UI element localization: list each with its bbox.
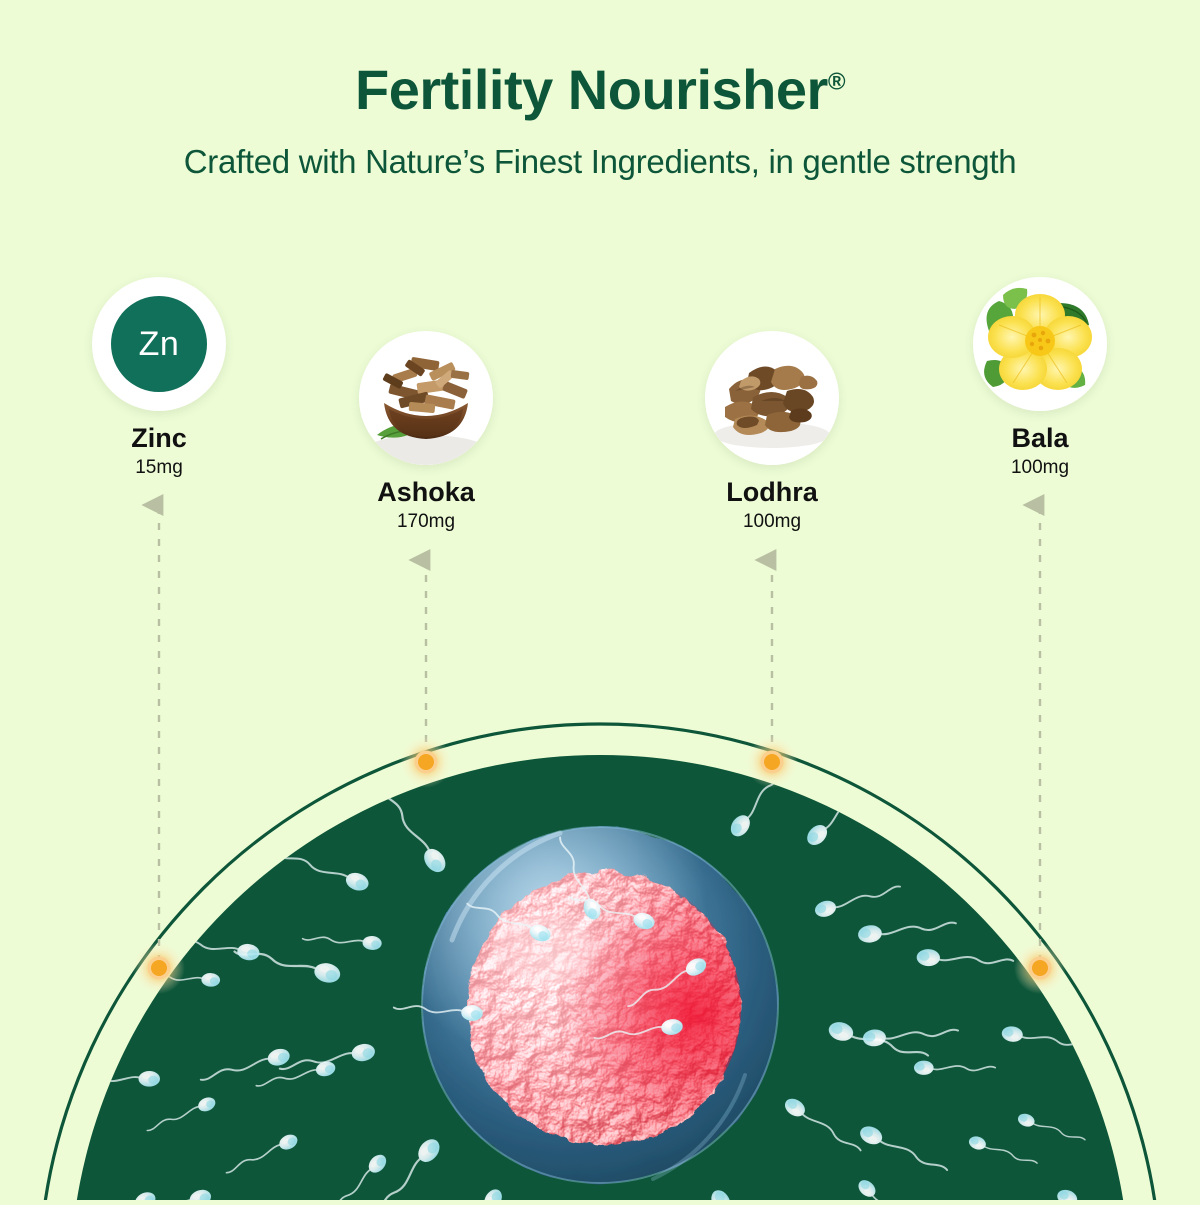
bala-yellow-flower-icon (973, 277, 1107, 411)
ingredient-name-zinc: Zinc (92, 423, 226, 454)
ingredient-name-lodhra: Lodhra (705, 477, 839, 508)
ingredient-bala[interactable]: Bala 100mg (973, 277, 1107, 480)
page-subtitle: Crafted with Nature’s Finest Ingredients… (0, 118, 1200, 180)
ingredient-name-bala: Bala (973, 423, 1107, 454)
ingredient-zinc[interactable]: Zn Zinc 15mg (92, 277, 226, 480)
zinc-symbol-text: Zn (139, 325, 180, 364)
ingredient-dose-zinc: 15mg (92, 456, 226, 480)
registered-trademark-icon: ® (828, 68, 845, 95)
ingredient-dose-ashoka: 170mg (359, 510, 493, 534)
lodhra-dried-bark-icon (705, 331, 839, 465)
connector-node-ashoka (400, 736, 452, 788)
ingredient-dose-bala: 100mg (973, 456, 1107, 480)
infographic-canvas: Fertility Nourisher® Crafted with Nature… (0, 0, 1200, 1200)
ingredient-lodhra[interactable]: Lodhra 100mg (705, 331, 839, 534)
ingredient-ashoka[interactable]: Ashoka 170mg (359, 331, 493, 534)
page-title-text: Fertility Nourisher (355, 58, 828, 121)
ingredient-dose-lodhra: 100mg (705, 510, 839, 534)
connector-node-zinc (133, 942, 185, 994)
page-title: Fertility Nourisher® (0, 0, 1200, 118)
connector-node-lodhra (746, 736, 798, 788)
ashoka-bark-bowl-icon (359, 331, 493, 465)
connector-node-bala (1014, 942, 1066, 994)
zinc-symbol-icon: Zn (92, 277, 226, 411)
header: Fertility Nourisher® Crafted with Nature… (0, 0, 1200, 180)
ingredient-name-ashoka: Ashoka (359, 477, 493, 508)
